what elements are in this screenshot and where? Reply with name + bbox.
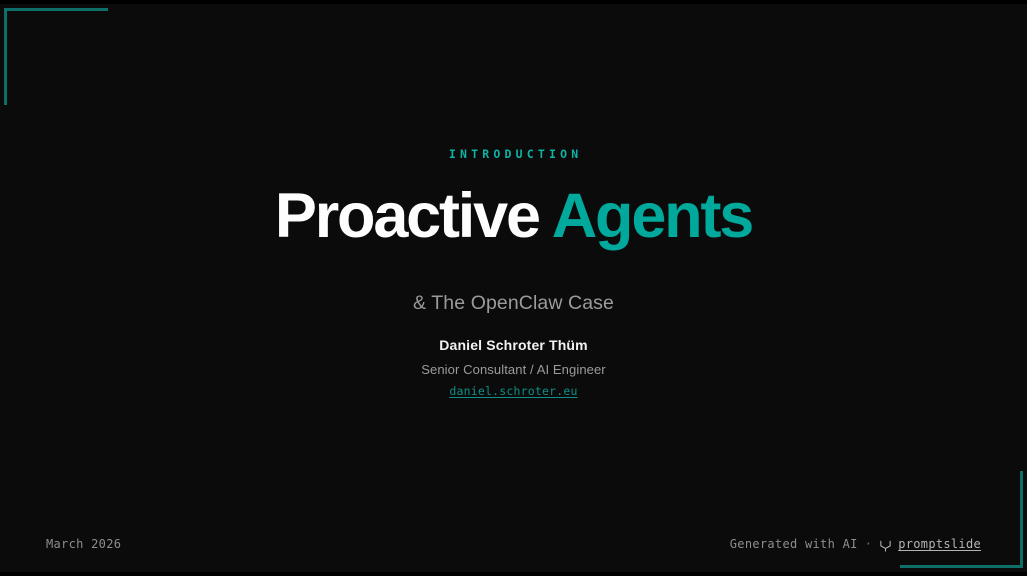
promptslide-brand-link[interactable]: promptslide [898,536,981,552]
page-subtitle: & The OpenClaw Case [0,290,1027,316]
author-website-link[interactable]: daniel.schroter.eu [449,383,577,399]
slide-stage: INTRODUCTION Proactive Agents & The Open… [0,0,1027,576]
footer-separator: · [864,536,874,552]
author-name: Daniel Schroter Thüm [0,336,1027,355]
promptslide-mark-icon [879,539,892,552]
title-primary: Proactive [275,181,539,251]
generated-with-ai-label: Generated with AI [730,536,858,552]
footer-date: March 2026 [46,536,121,552]
title-accent: Agents [552,181,752,251]
corner-bracket-top-left-icon [4,8,108,105]
corner-bracket-bottom-right-icon [900,471,1023,568]
eyebrow-label: INTRODUCTION [0,146,1027,162]
author-role: Senior Consultant / AI Engineer [0,361,1027,379]
page-title: Proactive Agents [0,184,1027,248]
slide-canvas: INTRODUCTION Proactive Agents & The Open… [0,4,1027,572]
hero-block: INTRODUCTION Proactive Agents & The Open… [0,146,1027,316]
author-block: Daniel Schroter Thüm Senior Consultant /… [0,336,1027,400]
footer-attribution: Generated with AI · promptslide [730,536,981,552]
